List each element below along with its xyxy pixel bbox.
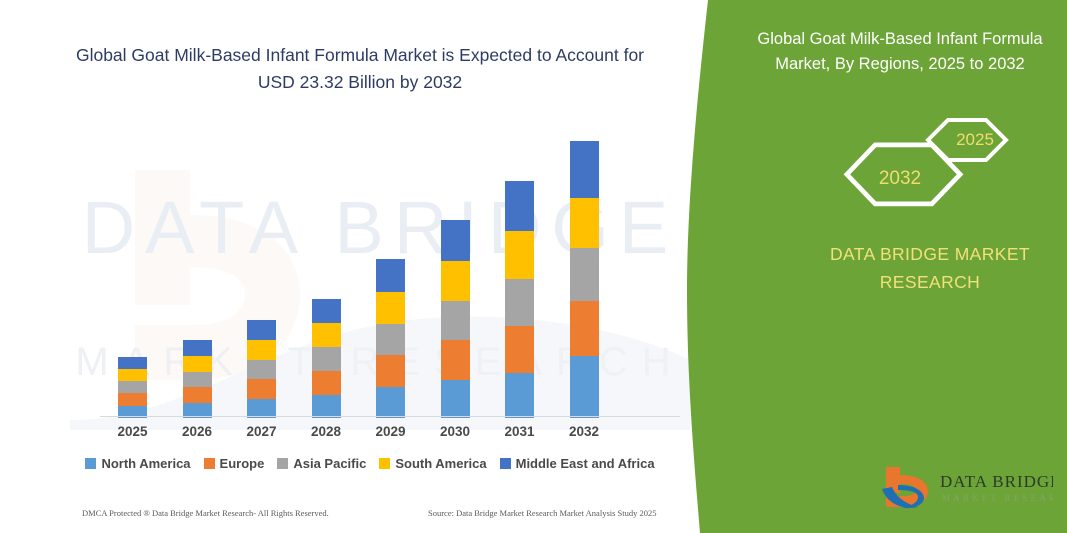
- segment-north-america-2029[interactable]: [376, 387, 405, 418]
- segment-middle-east-and-africa-2027[interactable]: [247, 320, 276, 340]
- segment-europe-2025[interactable]: [118, 393, 147, 406]
- footer-copyright: DMCA Protected ® Data Bridge Market Rese…: [82, 508, 329, 518]
- segment-south-america-2030[interactable]: [441, 261, 470, 301]
- x-label-2029: 2029: [361, 424, 421, 439]
- segment-middle-east-and-africa-2028[interactable]: [312, 299, 341, 323]
- legend-swatch-icon: [500, 458, 511, 469]
- x-label-2028: 2028: [296, 424, 356, 439]
- bar-2027[interactable]: [247, 320, 276, 418]
- legend-item-europe[interactable]: Europe: [204, 456, 265, 471]
- hexagon-outline-icons: [820, 108, 1040, 218]
- infographic-canvas: DATA BRIDGE MARKET RESEARCH Global Goat …: [0, 0, 1067, 533]
- stacked-bar-chart: [100, 120, 680, 418]
- segment-asia-pacific-2025[interactable]: [118, 381, 147, 393]
- legend-label: North America: [101, 456, 190, 471]
- segment-europe-2026[interactable]: [183, 387, 212, 403]
- bar-2028[interactable]: [312, 299, 341, 418]
- segment-north-america-2032[interactable]: [570, 356, 599, 418]
- segment-europe-2029[interactable]: [376, 355, 405, 387]
- segment-asia-pacific-2032[interactable]: [570, 248, 599, 301]
- x-axis-labels: 20252026202720282029203020312032: [100, 424, 680, 448]
- legend-item-asia-pacific[interactable]: Asia Pacific: [277, 456, 366, 471]
- segment-asia-pacific-2026[interactable]: [183, 372, 212, 387]
- segment-south-america-2032[interactable]: [570, 198, 599, 248]
- x-label-2027: 2027: [232, 424, 292, 439]
- legend-label: South America: [395, 456, 486, 471]
- segment-north-america-2031[interactable]: [505, 373, 534, 418]
- segment-asia-pacific-2031[interactable]: [505, 279, 534, 326]
- chart-legend: North AmericaEuropeAsia PacificSouth Ame…: [60, 456, 680, 471]
- legend-swatch-icon: [204, 458, 215, 469]
- hexagon-badges: 2032 2025: [820, 108, 1040, 218]
- panel-title: Global Goat Milk-Based Infant Formula Ma…: [740, 27, 1060, 77]
- segment-middle-east-and-africa-2032[interactable]: [570, 141, 599, 198]
- segment-south-america-2031[interactable]: [505, 231, 534, 279]
- legend-swatch-icon: [277, 458, 288, 469]
- x-label-2031: 2031: [490, 424, 550, 439]
- page-title: Global Goat Milk-Based Infant Formula Ma…: [60, 42, 660, 96]
- bar-2026[interactable]: [183, 340, 212, 418]
- panel-brand-text: DATA BRIDGE MARKET RESEARCH: [790, 240, 1067, 296]
- legend-item-south-america[interactable]: South America: [379, 456, 486, 471]
- legend-label: Europe: [220, 456, 265, 471]
- segment-europe-2030[interactable]: [441, 340, 470, 380]
- x-label-2030: 2030: [425, 424, 485, 439]
- legend-item-middle-east-and-africa[interactable]: Middle East and Africa: [500, 456, 655, 471]
- bar-2025[interactable]: [118, 357, 147, 418]
- segment-europe-2028[interactable]: [312, 371, 341, 395]
- segment-middle-east-and-africa-2025[interactable]: [118, 357, 147, 369]
- segment-south-america-2029[interactable]: [376, 292, 405, 324]
- footer-source: Source: Data Bridge Market Research Mark…: [428, 508, 657, 518]
- legend-swatch-icon: [85, 458, 96, 469]
- hexagon-label-2025: 2025: [925, 130, 1025, 150]
- segment-asia-pacific-2028[interactable]: [312, 347, 341, 371]
- x-label-2032: 2032: [554, 424, 614, 439]
- bar-2030[interactable]: [441, 220, 470, 418]
- segment-middle-east-and-africa-2026[interactable]: [183, 340, 212, 356]
- bar-2031[interactable]: [505, 181, 534, 418]
- segment-middle-east-and-africa-2029[interactable]: [376, 259, 405, 292]
- segment-south-america-2026[interactable]: [183, 356, 212, 372]
- logo-wordmark: DATA BRIDGE: [940, 472, 1053, 491]
- legend-swatch-icon: [379, 458, 390, 469]
- segment-south-america-2027[interactable]: [247, 340, 276, 360]
- legend-label: Middle East and Africa: [516, 456, 655, 471]
- x-axis-line: [100, 416, 680, 417]
- x-label-2025: 2025: [103, 424, 163, 439]
- bar-2032[interactable]: [570, 141, 599, 418]
- segment-south-america-2028[interactable]: [312, 323, 341, 347]
- bar-2029[interactable]: [376, 259, 405, 418]
- segment-middle-east-and-africa-2030[interactable]: [441, 220, 470, 261]
- segment-north-america-2028[interactable]: [312, 395, 341, 418]
- segment-asia-pacific-2030[interactable]: [441, 301, 470, 340]
- segment-south-america-2025[interactable]: [118, 369, 147, 381]
- legend-label: Asia Pacific: [293, 456, 366, 471]
- data-bridge-logo: DATA BRIDGE MARKET RESEARCH: [878, 463, 1053, 511]
- x-label-2026: 2026: [167, 424, 227, 439]
- segment-europe-2027[interactable]: [247, 379, 276, 399]
- legend-item-north-america[interactable]: North America: [85, 456, 190, 471]
- logo-tagline: MARKET RESEARCH: [942, 493, 1053, 503]
- segment-asia-pacific-2029[interactable]: [376, 324, 405, 355]
- segment-europe-2032[interactable]: [570, 301, 599, 356]
- hexagon-label-2032: 2032: [845, 168, 955, 190]
- segment-middle-east-and-africa-2031[interactable]: [505, 181, 534, 231]
- segment-asia-pacific-2027[interactable]: [247, 360, 276, 379]
- segment-north-america-2030[interactable]: [441, 380, 470, 418]
- segment-europe-2031[interactable]: [505, 326, 534, 373]
